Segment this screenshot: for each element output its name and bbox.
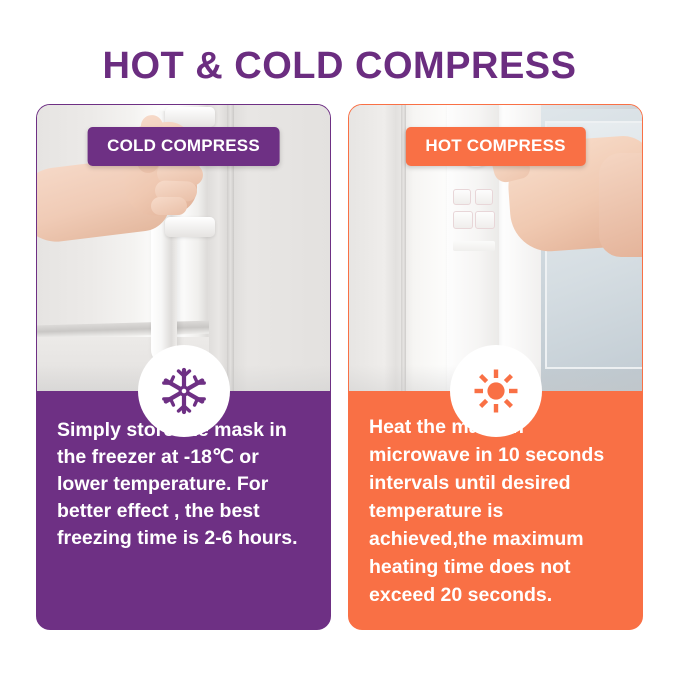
cold-compress-card: COLD COMPRESS	[36, 104, 331, 630]
snowflake-icon-circle	[138, 345, 230, 437]
microwave-button-3	[453, 211, 473, 229]
infographic-page: HOT & COLD COMPRESS COLD COMPRESS	[0, 0, 679, 679]
microwave-button-1	[453, 189, 471, 205]
microwave-button-4	[475, 211, 495, 229]
hot-compress-badge: HOT COMPRESS	[405, 127, 585, 166]
microwave-button-2	[475, 189, 493, 205]
page-title: HOT & COLD COMPRESS	[0, 44, 679, 88]
forearm	[599, 153, 642, 257]
sun-icon	[472, 367, 520, 415]
microwave-arrow-controls	[453, 241, 495, 251]
snowflake-icon	[160, 367, 208, 415]
hot-compress-card: HOT COMPRESS Heat the mask in microwave …	[348, 104, 643, 630]
cold-compress-badge: COLD COMPRESS	[87, 127, 280, 166]
hot-compress-body: Heat the mask in microwave in 10 seconds…	[349, 413, 642, 609]
cold-compress-body: Simply store the mask in the freezer at …	[37, 417, 330, 552]
sun-icon-circle	[450, 345, 542, 437]
handle-bracket-bottom	[165, 217, 215, 237]
thumb	[151, 197, 187, 215]
